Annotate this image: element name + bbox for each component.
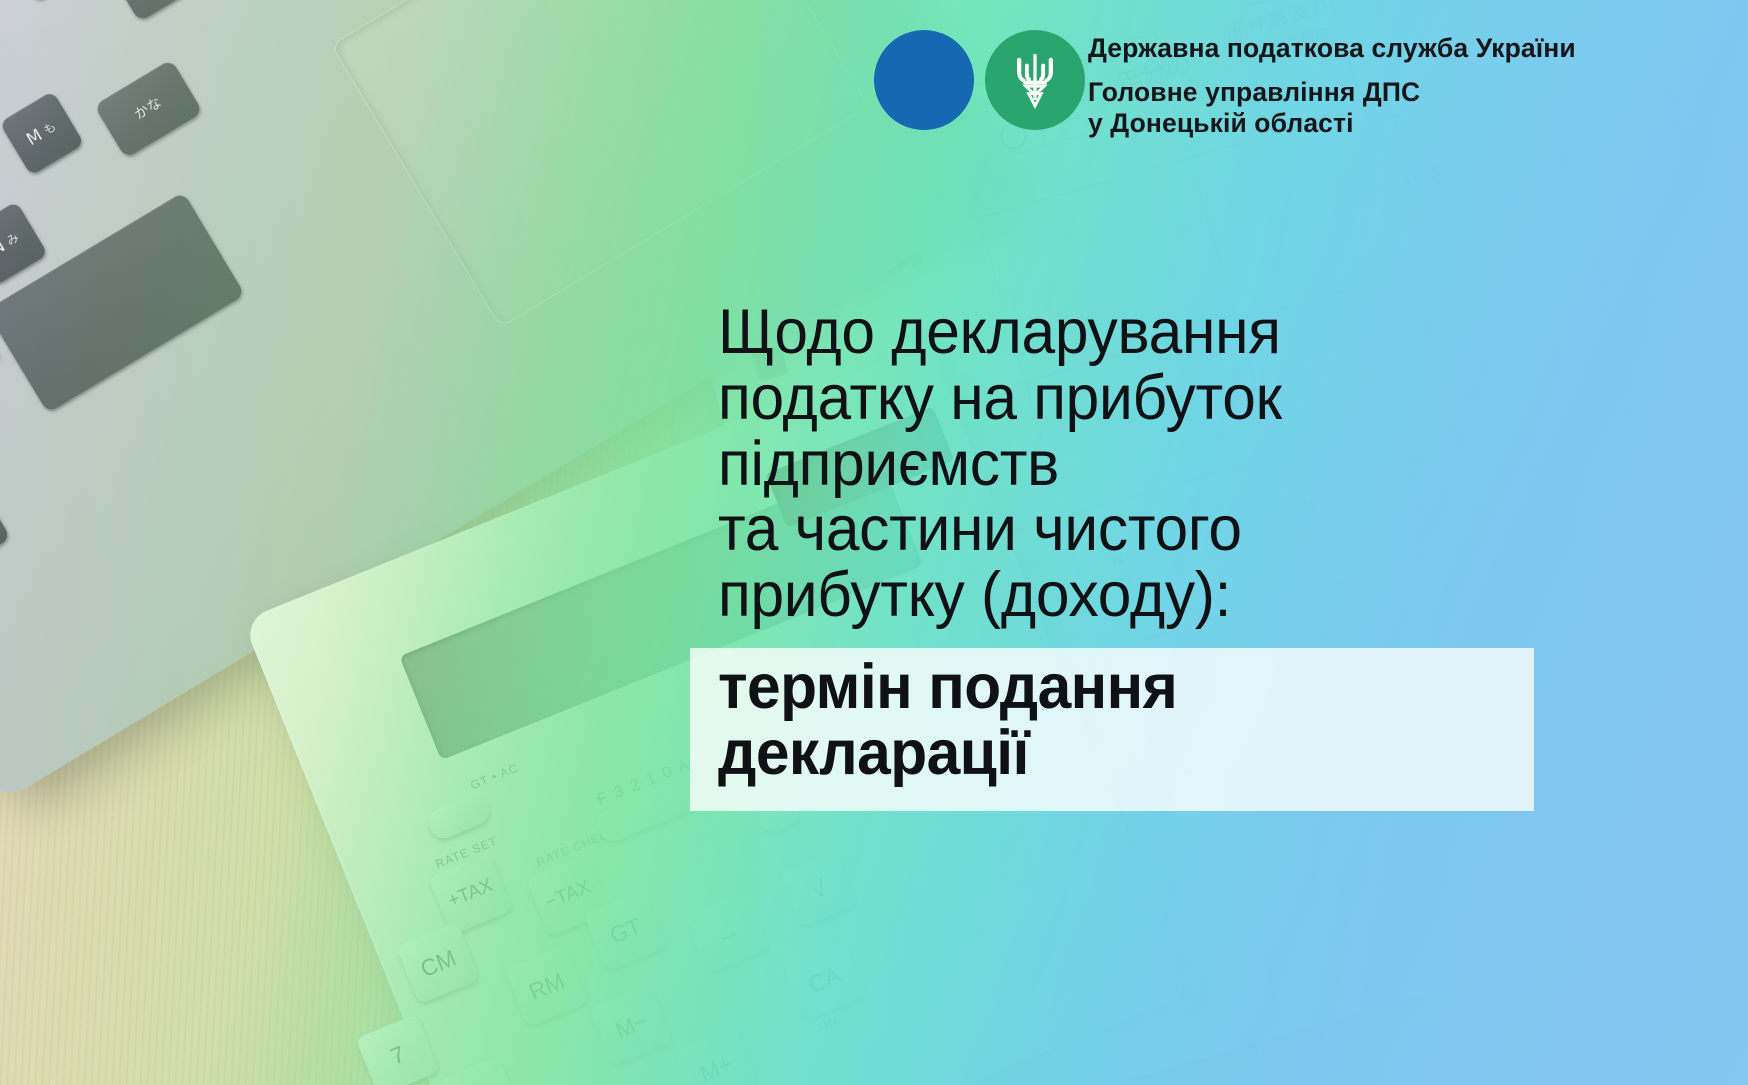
- org-name-block: Державна податкова служба України Головн…: [1088, 30, 1576, 139]
- org-title-line2b: у Донецькій області: [1088, 108, 1576, 139]
- ukrainian-trident-emblem: [1012, 51, 1058, 109]
- title-line-4: та частини чистого: [718, 497, 1688, 563]
- org-title-line2: Головне управління ДПС у Донецькій облас…: [1088, 77, 1576, 140]
- main-title: Щодо декларування податку на прибуток пі…: [718, 300, 1728, 629]
- blue-circle-icon: [874, 30, 974, 130]
- title-bold-line-2: декларації: [718, 721, 1688, 787]
- header-brand-block: Державна податкова служба України Головн…: [788, 30, 1576, 139]
- org-title-line2a: Головне управління ДПС: [1088, 77, 1576, 108]
- title-line-5: прибутку (доходу):: [718, 563, 1688, 629]
- dps-logo: [788, 30, 1088, 132]
- green-circle-trident-icon: [985, 30, 1085, 130]
- org-title-line1: Державна податкова служба України: [1088, 34, 1576, 64]
- title-line-1: Щодо декларування: [718, 300, 1688, 366]
- title-line-3: підприємств: [718, 432, 1688, 498]
- main-title-emphasis: термін подання декларації: [718, 655, 1728, 787]
- title-bold-line-1: термін подання: [718, 655, 1688, 721]
- poster-canvas: 〇 年分の 所 得 税 及 び 復興特別所得税 の 確定申告書A 個人番号 フリ…: [0, 0, 1748, 1085]
- title-line-2: податку на прибуток: [718, 366, 1688, 432]
